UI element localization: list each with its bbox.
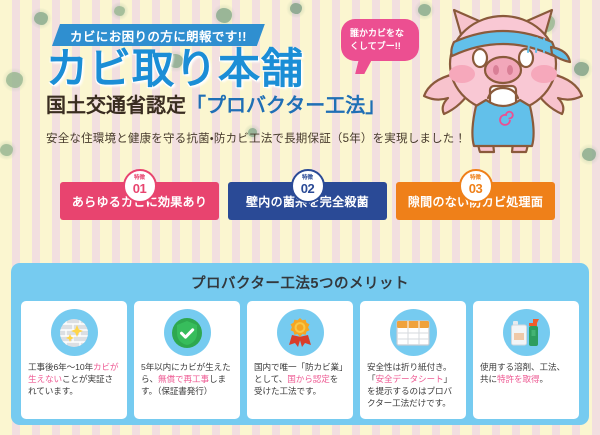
merit-card-text: 工事後6年〜10年カビが生えないことが実証されています。 [28,362,120,398]
announcement-ribbon-text: カビにお困りの方に朗報です!! [70,26,247,45]
speech-bubble-text: 誰かカビをなくしてブー!! [350,27,410,53]
merit-card-text: 使用する溶剤、工法、共に特許を取得。 [480,362,572,386]
feature-box-1[interactable]: 特徴 01 あらゆるカビに効果あり [60,182,219,220]
speech-bubble: 誰かカビをなくしてブー!! [341,19,419,61]
merit-card[interactable]: 安全性は折り紙付き。「安全データシート」を提示するのはプロバクター工法だけです。 [360,301,466,419]
feature-badge-number-2: 02 [301,182,314,196]
method-name-label: 「プロバクター工法」 [186,95,385,117]
merit-plain-text: 。 [539,374,548,384]
feature-badges-row: 特徴 01 あらゆるカビに効果あり 特徴 02 壁内の菌糸を完全殺菌 特徴 03… [0,170,600,232]
cleaning-bottles-icon [503,309,550,356]
page-title: カビ取り本舗 [46,48,304,90]
brick-wall-sparkle-icon [51,309,98,356]
merit-highlight-text: 特許を取得 [497,374,539,384]
merit-card[interactable]: 5年以内にカビが生えたら、無償で再工事します。（保証書発行） [134,301,240,419]
data-table-icon [390,309,437,356]
merit-card-list: 工事後6年〜10年カビが生えないことが実証されています。 5年以内にカビが生えた… [21,301,579,419]
feature-badge-3: 特徴 03 [459,169,493,203]
hero-lead-text: 安全な住環境と健康を守る抗菌・防カビ工法で長期保証（5年）を実現しました！ [46,130,466,146]
merit-card[interactable]: 工事後6年〜10年カビが生えないことが実証されています。 [21,301,127,419]
merit-highlight-text: 安全データシート [376,374,444,384]
merit-card-text: 5年以内にカビが生えたら、無償で再工事します。（保証書発行） [141,362,233,398]
merit-highlight-text: 無償で再工事 [158,374,209,384]
shield-check-icon [164,309,211,356]
merit-highlight-text: 国から認定 [287,374,329,384]
merits-title: プロバクター工法5つのメリット [11,263,589,301]
merit-plain-text: 工事後6年〜10年 [28,362,93,372]
award-medal-icon [277,309,324,356]
merits-panel: プロバクター工法5つのメリット [11,263,589,425]
merit-card[interactable]: 国内で唯一「防カビ業」として、国から認定を受けた工法です。 [247,301,353,419]
feature-badge-number-1: 01 [133,182,146,196]
government-certification-label: 国土交通省認定 [46,95,186,117]
feature-box-2[interactable]: 特徴 02 壁内の菌糸を完全殺菌 [228,182,387,220]
pig-mascot [418,2,588,160]
feature-badge-number-3: 03 [469,182,482,196]
landing-page: カビにお困りの方に朗報です!! カビ取り本舗 国土交通省認定「プロバクター工法」… [0,0,600,435]
feature-badge-1: 特徴 01 [123,169,157,203]
page-subtitle: 国土交通省認定「プロバクター工法」 [46,96,385,116]
feature-badge-2: 特徴 02 [291,169,325,203]
merit-card[interactable]: 使用する溶剤、工法、共に特許を取得。 [473,301,579,419]
announcement-ribbon: カビにお困りの方に朗報です!! [52,24,265,46]
merit-card-text: 安全性は折り紙付き。「安全データシート」を提示するのはプロバクター工法だけです。 [367,362,459,409]
merit-card-text: 国内で唯一「防カビ業」として、国から認定を受けた工法です。 [254,362,346,398]
feature-box-3[interactable]: 特徴 03 隙間のない防カビ処理面 [396,182,555,220]
